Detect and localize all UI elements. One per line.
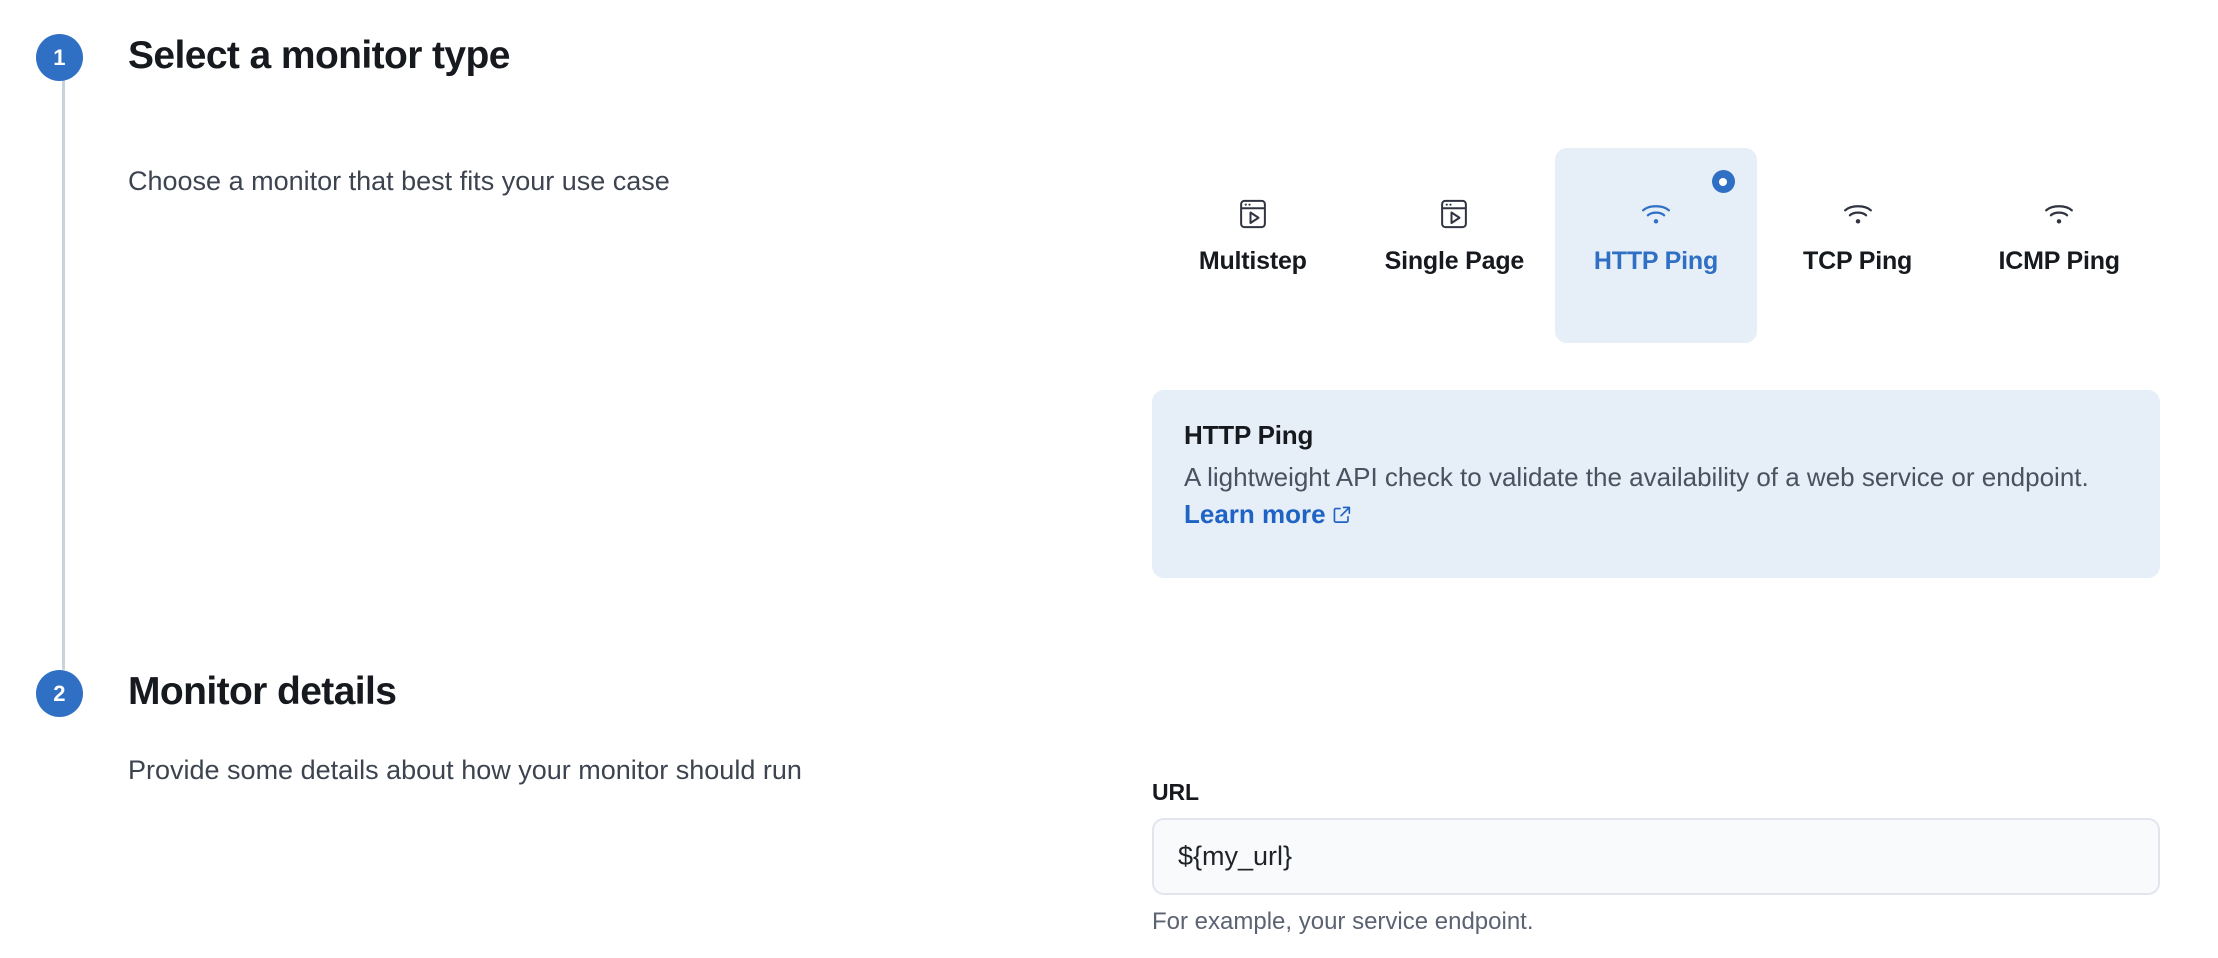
monitor-type-label: ICMP Ping (1998, 247, 2119, 276)
monitor-setup-wizard: 1 Select a monitor type Choose a monitor… (0, 0, 2218, 958)
learn-more-label: Learn more (1184, 499, 1326, 529)
step-1-title: Select a monitor type (128, 31, 510, 81)
monitor-type-card-http-ping[interactable]: HTTP Ping (1555, 148, 1757, 343)
url-field-block: URL ${my_url} For example, your service … (1152, 778, 2160, 937)
info-panel-body: A lightweight API check to validate the … (1184, 459, 2124, 535)
step-2-description: Provide some details about how your moni… (128, 753, 802, 788)
url-field-help-text: For example, your service endpoint. (1152, 906, 2160, 937)
monitor-type-label: HTTP Ping (1594, 247, 1718, 276)
step-1-description: Choose a monitor that best fits your use… (128, 164, 670, 199)
monitor-type-label: Single Page (1385, 247, 1525, 276)
monitor-type-card-icmp-ping[interactable]: ICMP Ping (1958, 148, 2160, 343)
monitor-type-card-tcp-ping[interactable]: TCP Ping (1757, 148, 1959, 343)
wizard-connector-line (62, 80, 65, 670)
radio-selected-icon[interactable] (1712, 170, 1735, 193)
wifi-ping-icon (1841, 197, 1875, 231)
monitor-type-info-panel: HTTP Ping A lightweight API check to val… (1152, 390, 2160, 578)
monitor-type-card-multistep[interactable]: Multistep (1152, 148, 1354, 343)
step-1-badge: 1 (36, 34, 83, 81)
url-field-label: URL (1152, 778, 2160, 808)
browser-play-icon (1439, 197, 1469, 231)
browser-play-icon (1238, 197, 1268, 231)
step-2-title: Monitor details (128, 667, 396, 717)
monitor-type-card-single-page[interactable]: Single Page (1354, 148, 1556, 343)
wifi-ping-icon (1639, 197, 1673, 231)
wifi-ping-icon (2042, 197, 2076, 231)
external-link-icon (1332, 498, 1352, 535)
url-input[interactable]: ${my_url} (1152, 818, 2160, 895)
info-panel-body-text: A lightweight API check to validate the … (1184, 462, 2089, 492)
step-2-badge: 2 (36, 670, 83, 717)
url-input-value: ${my_url} (1178, 841, 1292, 872)
learn-more-link[interactable]: Learn more (1184, 499, 1352, 529)
info-panel-title: HTTP Ping (1184, 418, 2128, 453)
monitor-type-label: Multistep (1199, 247, 1307, 276)
monitor-type-selector: Multistep Single Page (1152, 148, 2160, 343)
monitor-type-label: TCP Ping (1803, 247, 1912, 276)
